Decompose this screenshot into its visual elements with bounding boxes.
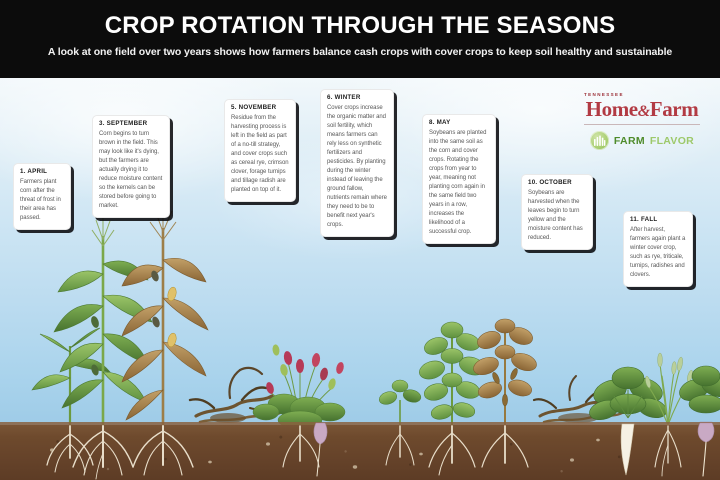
home-and-farm-kicker: TENNESSEE — [584, 93, 624, 98]
logo-ampersand: & — [638, 103, 650, 120]
callout-body: Soybeans are harvested when the leaves b… — [528, 189, 586, 243]
logo-word-home: Home — [586, 97, 638, 121]
callout-body: Soybeans are planted into the same soil … — [429, 129, 489, 237]
wheat-circle-icon — [590, 131, 609, 150]
callout-heading: 8. MAY — [429, 120, 489, 127]
callout-heading: 6. WINTER — [327, 95, 387, 102]
callout-body: After harvest, farmers again plant a win… — [630, 226, 686, 280]
logo-divider — [584, 124, 700, 125]
header-bar: CROP ROTATION THROUGH THE SEASONS A look… — [0, 0, 720, 78]
page-title: CROP ROTATION THROUGH THE SEASONS — [0, 12, 720, 40]
callout-september[interactable]: 3. SEPTEMBER Corn begins to turn brown i… — [92, 115, 170, 218]
callout-body: Corn begins to turn brown in the field. … — [99, 130, 163, 211]
callout-fall[interactable]: 11. FALL After harvest, farmers again pl… — [623, 211, 693, 287]
home-and-farm-wordmark: Home&Farm — [578, 94, 706, 120]
callout-april[interactable]: 1. APRIL Farmers plant corn after the th… — [13, 163, 71, 230]
callout-november[interactable]: 5. NOVEMBER Residue from the harvesting … — [224, 99, 296, 202]
callout-heading: 5. NOVEMBER — [231, 105, 289, 112]
callout-may[interactable]: 8. MAY Soybeans are planted into the sam… — [422, 114, 496, 244]
callout-winter[interactable]: 6. WINTER Cover crops increase the organ… — [320, 89, 394, 237]
farm-flavor-word-farm: FARM — [614, 135, 645, 147]
callout-october[interactable]: 10. OCTOBER Soybeans are harvested when … — [521, 174, 593, 250]
callout-body: Farmers plant corn after the threat of f… — [20, 178, 64, 223]
infographic-page: CROP ROTATION THROUGH THE SEASONS A look… — [0, 0, 720, 480]
callout-body: Residue from the harvesting process is l… — [231, 114, 289, 195]
callout-heading: 10. OCTOBER — [528, 180, 586, 187]
farm-flavor-word-flavor: FLAVOR — [650, 135, 694, 147]
farm-flavor-logo[interactable]: FARM FLAVOR — [578, 131, 706, 150]
page-subtitle: A look at one field over two years shows… — [0, 46, 720, 58]
callout-heading: 11. FALL — [630, 217, 686, 224]
logo-word-farm: Farm — [650, 97, 699, 121]
forage-turnip-root — [703, 442, 706, 476]
callout-heading: 1. APRIL — [20, 169, 64, 176]
forage-turnip-bulb — [314, 423, 327, 444]
field-illustration: TENNESSEE Home&Farm — [0, 78, 720, 480]
tillage-radish-root — [621, 424, 634, 475]
logo-block: TENNESSEE Home&Farm — [578, 94, 706, 150]
forage-turnip-bulb — [698, 423, 714, 442]
home-and-farm-logo[interactable]: TENNESSEE Home&Farm — [578, 94, 706, 120]
callout-body: Cover crops increase the organic matter … — [327, 104, 387, 230]
callout-heading: 3. SEPTEMBER — [99, 121, 163, 128]
